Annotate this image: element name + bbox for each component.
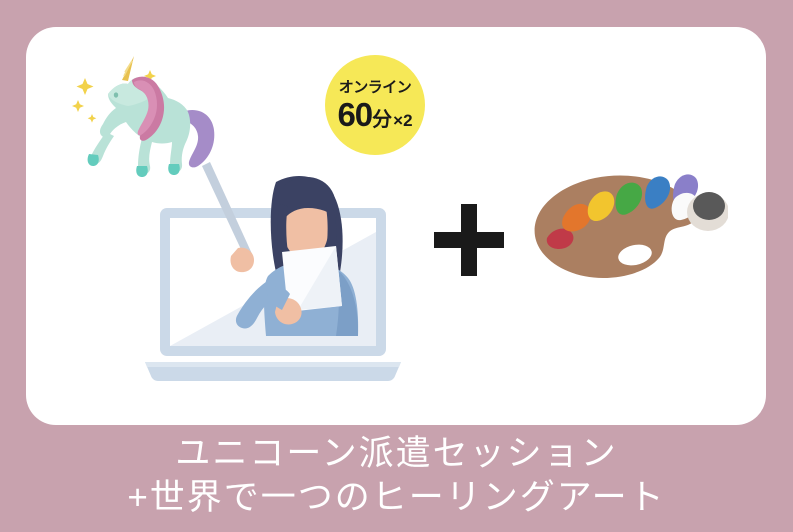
brush-blob [693, 192, 725, 220]
online-lesson-illustration [140, 160, 425, 392]
badge-duration-unit: 分 [372, 110, 392, 130]
title-line-1: ユニコーン派遣セッション [0, 432, 793, 476]
badge-online-label: オンライン [339, 80, 412, 95]
promo-banner: オンライン 60 分 ×2 [0, 0, 793, 532]
title-line-2: +世界で一つのヒーリングアート [0, 476, 793, 520]
badge-duration: 60 分 ×2 [337, 98, 412, 131]
palette-board [535, 176, 697, 278]
duration-badge: オンライン 60 分 ×2 [325, 55, 425, 155]
unicorn-eye [114, 92, 118, 97]
paint-palette-illustration [523, 160, 728, 325]
banner-title: ユニコーン派遣セッション +世界で一つのヒーリングアート [0, 432, 793, 520]
laptop-base-highlight [145, 362, 401, 367]
badge-duration-number: 60 [337, 98, 372, 131]
plus-icon [434, 204, 514, 276]
badge-multiplier: ×2 [393, 112, 412, 129]
